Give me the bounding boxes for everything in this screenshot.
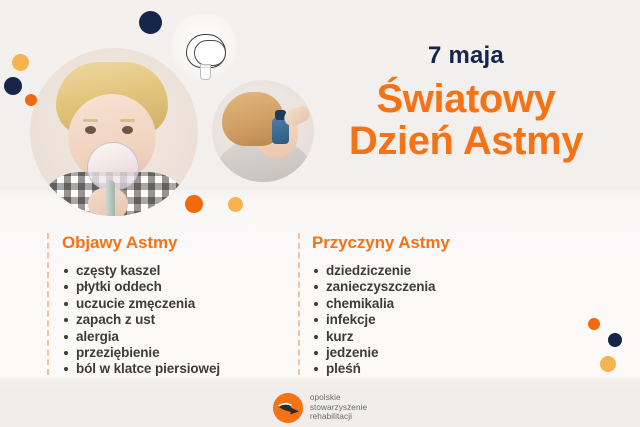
dot-orange-bottom — [185, 195, 203, 213]
list-item: zapach z ust — [62, 312, 277, 327]
list-item: ból w klatce piersiowej — [62, 361, 277, 376]
list-item: pleśń — [312, 361, 502, 376]
list-item: infekcje — [312, 312, 502, 327]
dot-orange-left — [25, 94, 37, 106]
photo-child-with-inhaler — [212, 80, 314, 182]
swoosh-icon — [277, 402, 300, 415]
organization-logo: opolskie stowarzyszenie rehabilitacji — [273, 393, 367, 423]
dot-amber-top-left — [12, 54, 29, 71]
list-item: jedzenie — [312, 345, 502, 360]
photo-nebulizer-device — [170, 14, 238, 82]
list-item: alergia — [62, 329, 277, 344]
page-title-line-1: Światowy — [316, 78, 616, 120]
divider-symptoms — [47, 233, 49, 375]
mask-stem — [200, 64, 211, 80]
list-item: chemikalia — [312, 296, 502, 311]
symptoms-column: Objawy Astmy częsty kaszel płytki oddech… — [62, 233, 277, 378]
list-item: przeziębienie — [62, 345, 277, 360]
event-date: 7 maja — [316, 44, 616, 68]
logo-line-1: opolskie — [310, 393, 367, 402]
mask-cup-inner — [194, 40, 226, 66]
logo-text: opolskie stowarzyszenie rehabilitacji — [310, 393, 367, 421]
headline-block: 7 maja Światowy Dzień Astmy — [316, 44, 616, 163]
dot-amber-bottom — [228, 197, 243, 212]
logo-line-2: stowarzyszenie — [310, 403, 367, 412]
list-item: częsty kaszel — [62, 263, 277, 278]
symptoms-list: częsty kaszel płytki oddech uczucie zmęc… — [62, 263, 277, 377]
dot-navy-left — [4, 77, 22, 95]
info-panel: Objawy Astmy częsty kaszel płytki oddech… — [0, 215, 640, 390]
nebulizer-tube — [106, 180, 115, 216]
page-title-line-2: Dzień Astmy — [316, 120, 616, 162]
list-item: zanieczyszczenia — [312, 279, 502, 294]
list-item: płytki oddech — [62, 279, 277, 294]
dot-amber-right — [600, 356, 616, 372]
list-item: dziedziczenie — [312, 263, 502, 278]
dot-navy-top — [139, 11, 162, 34]
eye-right — [122, 126, 133, 134]
eyebrow-right — [120, 119, 135, 122]
dot-orange-right — [588, 318, 600, 330]
causes-list: dziedziczenie zanieczyszczenia chemikali… — [312, 263, 502, 377]
list-item: uczucie zmęczenia — [62, 296, 277, 311]
causes-column: Przyczyny Astmy dziedziczenie zanieczysz… — [312, 233, 502, 378]
logo-mark-icon — [273, 393, 303, 423]
footer-bar: opolskie stowarzyszenie rehabilitacji — [0, 388, 640, 427]
dot-navy-right — [608, 333, 622, 347]
symptoms-title: Objawy Astmy — [62, 233, 277, 253]
causes-title: Przyczyny Astmy — [312, 233, 502, 253]
list-item: kurz — [312, 329, 502, 344]
logo-line-3: rehabilitacji — [310, 412, 367, 421]
divider-causes — [298, 233, 300, 375]
asthma-day-infographic: 7 maja Światowy Dzień Astmy Objawy Astmy… — [0, 0, 640, 427]
eyebrow-left — [83, 119, 98, 122]
eye-left — [85, 126, 96, 134]
